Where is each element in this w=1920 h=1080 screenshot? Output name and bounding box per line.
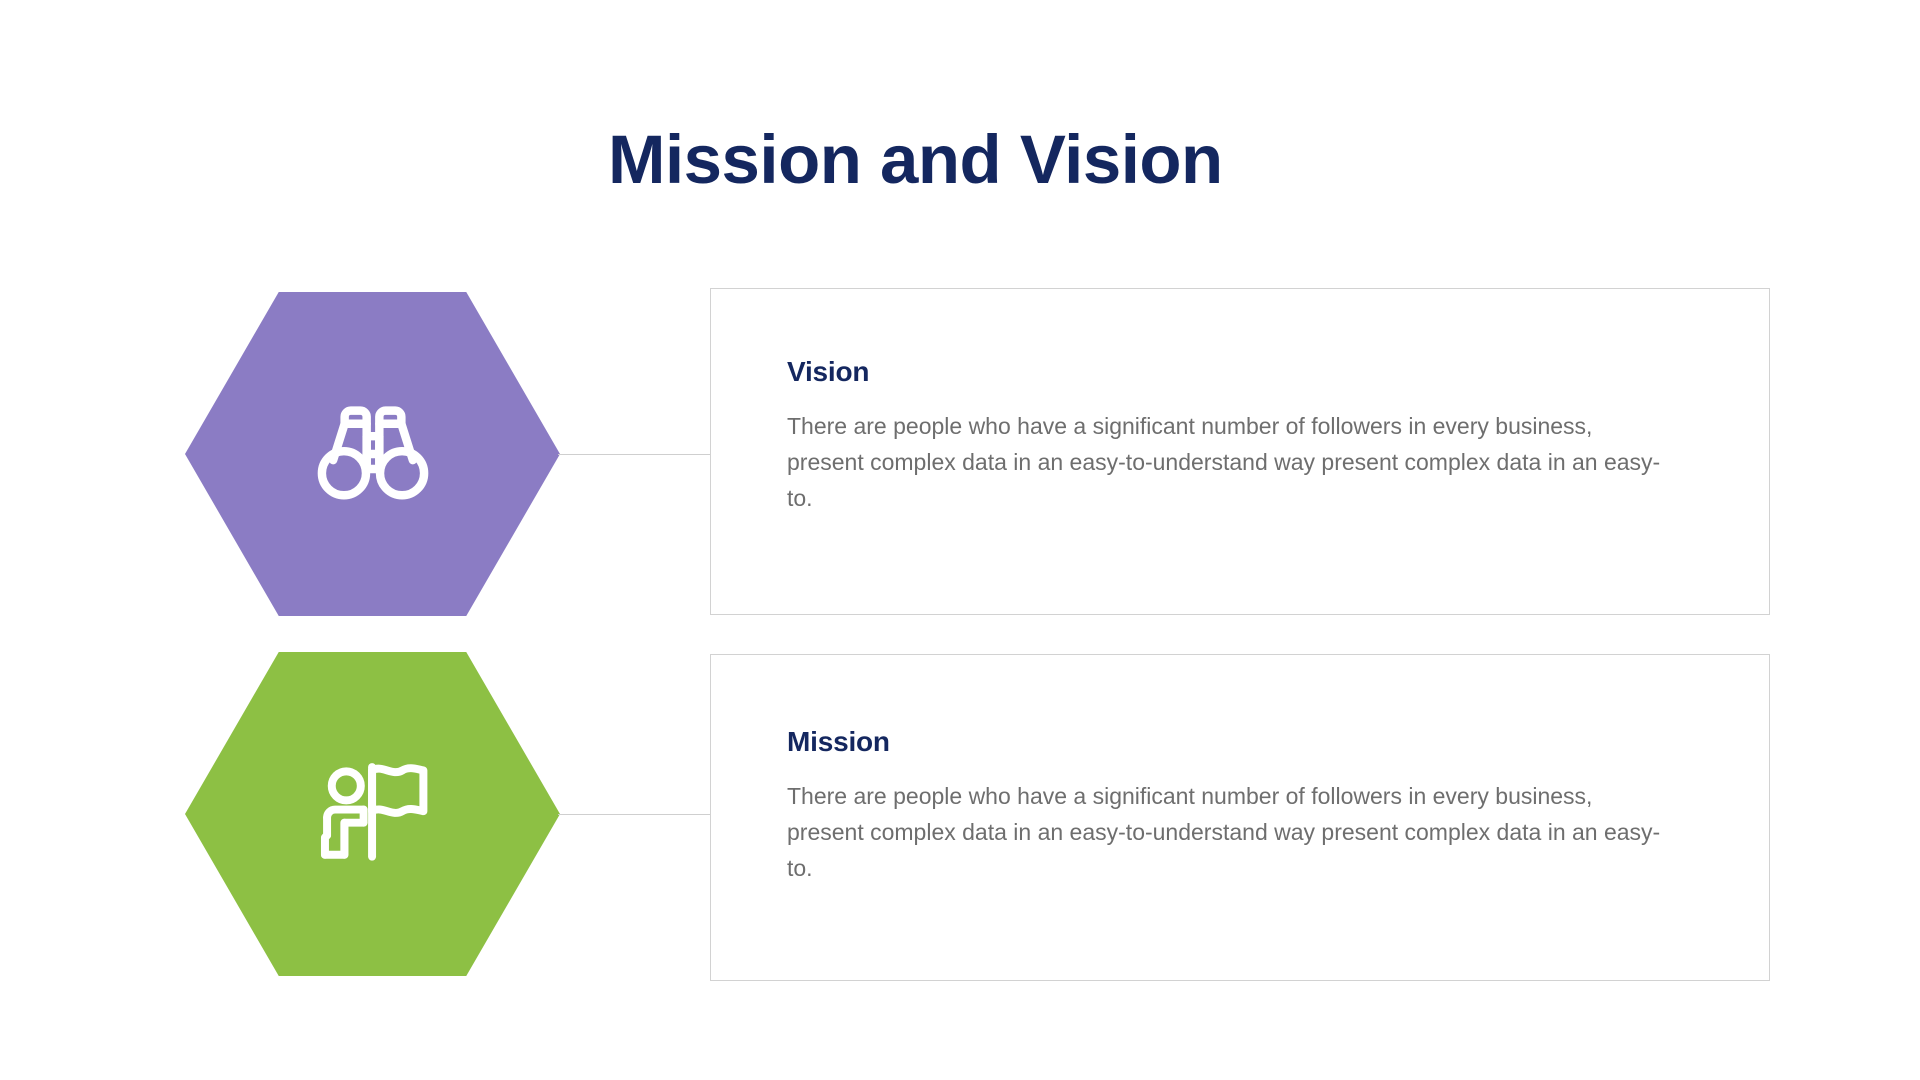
vision-body-text: There are people who have a significant …: [787, 408, 1667, 517]
vision-heading: Vision: [787, 357, 1709, 388]
mission-card-content: Mission There are people who have a sign…: [787, 727, 1709, 887]
mission-connector-line: [558, 814, 712, 815]
vision-card[interactable]: Vision There are people who have a signi…: [710, 288, 1770, 615]
binoculars-icon: [298, 379, 448, 529]
vision-hexagon[interactable]: [185, 292, 560, 616]
person-with-flag-icon: [298, 739, 448, 889]
mission-hexagon[interactable]: [185, 652, 560, 976]
vision-card-content: Vision There are people who have a signi…: [787, 357, 1709, 517]
mission-row: Mission There are people who have a sign…: [0, 648, 1920, 981]
slide-canvas: Mission and Vision: [0, 0, 1920, 1080]
mission-card[interactable]: Mission There are people who have a sign…: [710, 654, 1770, 981]
mission-body-text: There are people who have a significant …: [787, 778, 1667, 887]
mission-heading: Mission: [787, 727, 1709, 758]
vision-row: Vision There are people who have a signi…: [0, 288, 1920, 618]
vision-connector-line: [558, 454, 712, 455]
page-title: Mission and Vision: [608, 124, 1223, 196]
